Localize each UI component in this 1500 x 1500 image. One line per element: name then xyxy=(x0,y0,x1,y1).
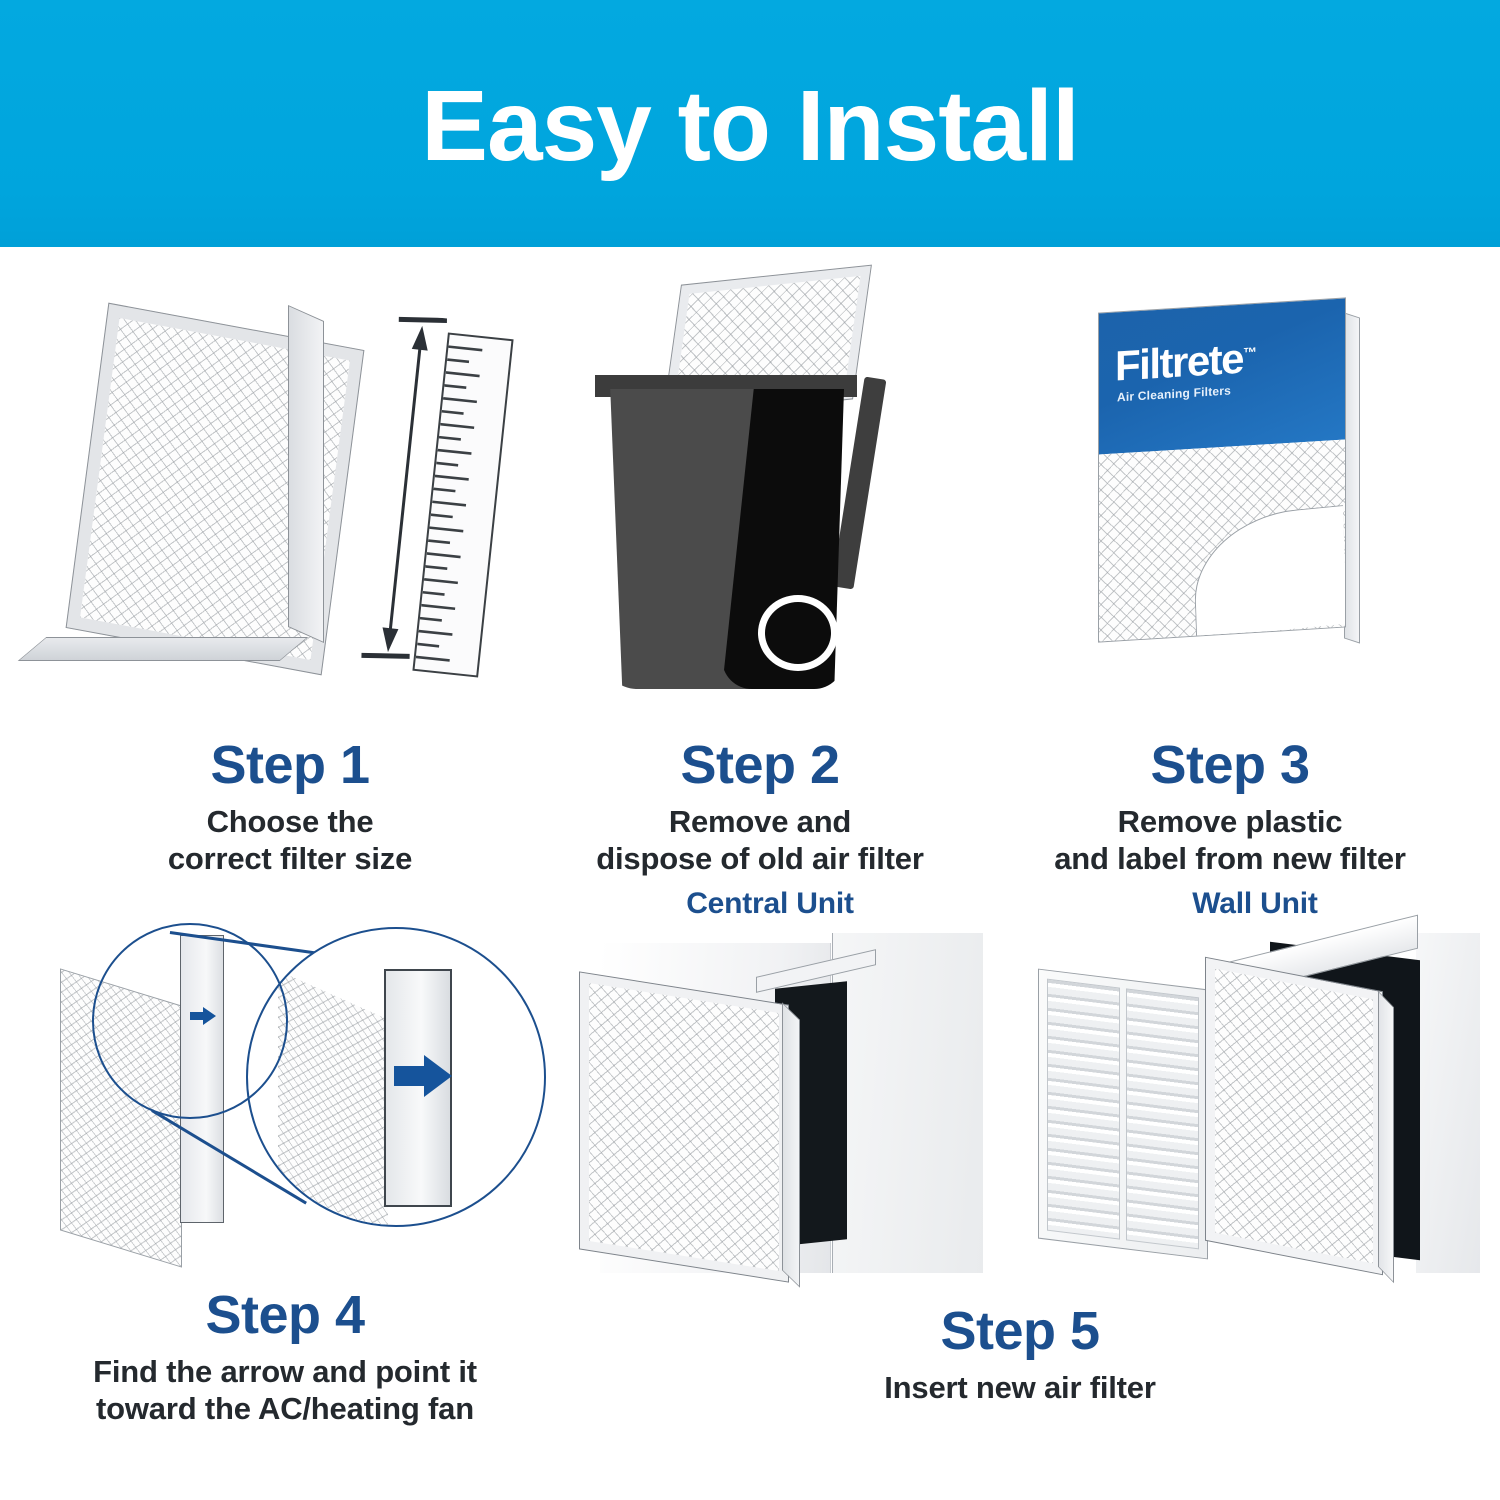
step-1-cell: Step 1 Choose the correct filter size xyxy=(30,307,550,878)
step-2-title: Step 2 xyxy=(500,737,1020,793)
plastic-peel-corner xyxy=(1192,505,1345,638)
package-side-edge xyxy=(1344,312,1360,643)
wall-unit-illustration xyxy=(1030,933,1480,1283)
trash-bin-wheel xyxy=(758,595,838,671)
step-5-illustrations: Central Unit Wall Unit xyxy=(560,887,1480,1297)
header-banner: Easy to Install xyxy=(0,0,1500,247)
central-unit-illustration xyxy=(560,933,980,1283)
step-4-title: Step 4 xyxy=(20,1287,550,1343)
step-3-caption-line-1: Remove plastic xyxy=(980,803,1480,840)
step-3-title: Step 3 xyxy=(980,737,1480,793)
step-5-text-block: Step 5 Insert new air filter xyxy=(560,1303,1480,1406)
step-4-caption-line-2: toward the AC/heating fan xyxy=(20,1390,550,1427)
new-filter-wall-edge xyxy=(1378,991,1394,1284)
trademark-symbol: ™ xyxy=(1243,344,1257,361)
step-2-caption: Remove and dispose of old air filter xyxy=(500,803,1020,877)
central-unit-group: Central Unit xyxy=(560,887,980,1283)
step-1-caption-line-2: correct filter size xyxy=(30,840,550,877)
wall-unit-group: Wall Unit xyxy=(1030,887,1480,1283)
central-unit-label: Central Unit xyxy=(560,887,980,921)
step-1-caption: Choose the correct filter size xyxy=(30,803,550,877)
step-4-caption-line-1: Find the arrow and point it xyxy=(20,1353,550,1390)
step-2-caption-line-1: Remove and xyxy=(500,803,1020,840)
step-2-caption-line-2: dispose of old air filter xyxy=(500,840,1020,877)
wall-corner-surface xyxy=(1416,933,1480,1273)
magnifier-source-circle xyxy=(92,923,288,1119)
louver-column xyxy=(1126,988,1199,1249)
filter-bottom-edge xyxy=(18,637,309,661)
filter-side-edge xyxy=(288,305,324,643)
filtrete-brand-text: Filtrete™ xyxy=(1115,334,1257,391)
step-1-illustration xyxy=(30,307,550,737)
step-3-cell: Filtrete™ Air Cleaning Filters Step 3 Re… xyxy=(980,287,1480,878)
step-5-caption-line-1: Insert new air filter xyxy=(560,1369,1480,1406)
page-title: Easy to Install xyxy=(0,76,1500,176)
step-5-title: Step 5 xyxy=(560,1303,1480,1359)
step-3-illustration: Filtrete™ Air Cleaning Filters xyxy=(980,287,1480,737)
airflow-arrow-icon-large xyxy=(394,1055,452,1097)
louver-column xyxy=(1047,979,1120,1240)
step-3-caption-line-2: and label from new filter xyxy=(980,840,1480,877)
step-4-caption: Find the arrow and point it toward the A… xyxy=(20,1353,550,1427)
step-1-caption-line-1: Choose the xyxy=(30,803,550,840)
step-2-cell: Step 2 Remove and dispose of old air fil… xyxy=(500,277,1020,878)
new-filter-wall xyxy=(1206,958,1382,1274)
louvered-grille-door xyxy=(1038,969,1208,1260)
package-filter-mesh xyxy=(1099,440,1345,642)
step-1-title: Step 1 xyxy=(30,737,550,793)
step-3-caption: Remove plastic and label from new filter xyxy=(980,803,1480,877)
step-5-cell: Central Unit Wall Unit xyxy=(560,887,1480,1406)
steps-grid: Step 1 Choose the correct filter size St… xyxy=(0,247,1500,1500)
step-5-caption: Insert new air filter xyxy=(560,1369,1480,1406)
package-brand-label: Filtrete™ Air Cleaning Filters xyxy=(1099,298,1345,454)
brand-word: Filtrete xyxy=(1115,335,1243,390)
magnified-detail-circle xyxy=(246,927,546,1227)
filtrete-package: Filtrete™ Air Cleaning Filters xyxy=(1098,297,1346,642)
furnace-panel-right xyxy=(832,933,983,1273)
step-4-illustration xyxy=(20,887,550,1287)
magnified-filter-mesh xyxy=(278,971,388,1227)
new-filter-central xyxy=(580,973,788,1282)
new-filter-central-edge xyxy=(782,1002,800,1287)
step-2-illustration xyxy=(500,277,1020,737)
step-4-cell: Step 4 Find the arrow and point it towar… xyxy=(20,887,550,1428)
